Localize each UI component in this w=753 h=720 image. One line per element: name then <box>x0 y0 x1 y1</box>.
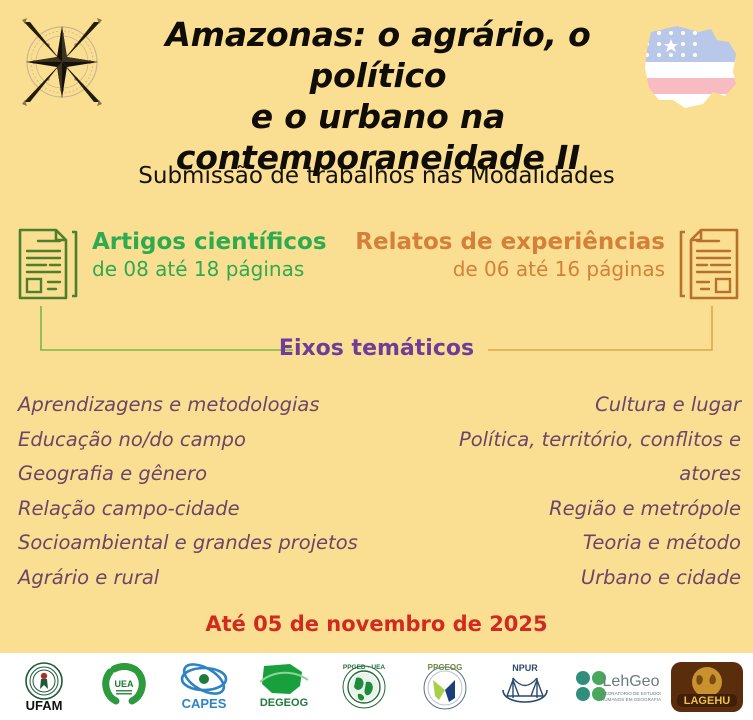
page-title: Amazonas: o agrário, o político e o urba… <box>108 14 648 178</box>
logo-lagehu: LAGEHU <box>669 656 745 718</box>
list-item: Cultura e lugar <box>411 388 741 423</box>
document-icon <box>675 226 741 302</box>
list-item: Urbano e cidade <box>411 561 741 596</box>
logo-capes: CAPES <box>168 656 240 718</box>
list-item: Teoria e método <box>411 526 741 561</box>
list-item: Aprendizagens e metodologias <box>18 388 388 423</box>
modality-name: Artigos científicos <box>92 228 327 256</box>
modality-relatos-de-experiencias: Relatos de experiências de 06 até 16 pág… <box>395 226 745 306</box>
amazonas-flag-map-icon <box>637 20 745 114</box>
svg-text:HUMANOS EM GEOGRAFIA: HUMANOS EM GEOGRAFIA <box>601 697 661 702</box>
logo-lehgeo: LehGeo LABORATORIO DE ESTUDOS HUMANOS EM… <box>569 656 661 718</box>
logo-ppgeog: PPGEOG <box>409 656 481 718</box>
list-item: Política, território, conflitos e atores <box>411 423 741 492</box>
list-item: Região e metrópole <box>411 492 741 527</box>
logo-label: PPGED - UEA <box>343 664 386 671</box>
title-line-1: Amazonas: o agrário, o político <box>108 14 648 96</box>
logo-degeog: DEGEOG <box>248 656 320 718</box>
logo-label: CAPES <box>182 696 227 711</box>
logo-label: UEA <box>115 679 135 689</box>
logo-label: NPUR <box>512 663 538 673</box>
list-item: Socioambiental e grandes projetos <box>18 526 388 561</box>
eixos-right-column: Cultura e lugar Política, território, co… <box>411 388 741 595</box>
eixos-tematicos-label: Eixos temáticos <box>0 336 753 361</box>
page-subtitle: Submissão de trabalhos nas Modalidades <box>0 163 753 189</box>
list-item: Relação campo-cidade <box>18 492 388 527</box>
list-item: Geografia e gênero <box>18 457 388 492</box>
list-item: Agrário e rural <box>18 561 388 596</box>
logo-label: LAGEHU <box>684 695 731 707</box>
logo-label: LehGeo <box>602 673 659 690</box>
svg-text:LABORATORIO DE ESTUDOS: LABORATORIO DE ESTUDOS <box>599 691 661 696</box>
modality-artigos-cientificos: Artigos científicos de 08 até 18 páginas <box>10 226 360 306</box>
modality-name: Relatos de experiências <box>355 228 665 256</box>
deadline-text: Até 05 de novembro de 2025 <box>0 612 753 636</box>
modality-pages: de 06 até 16 páginas <box>355 256 665 282</box>
poster-root: Amazonas: o agrário, o político e o urba… <box>0 0 753 720</box>
modality-text: Artigos científicos de 08 até 18 páginas <box>92 228 327 282</box>
logo-label: UFAM <box>26 698 63 713</box>
logo-uea: UEA <box>88 656 160 718</box>
logo-ppged-uea: PPGED - UEA <box>328 656 400 718</box>
list-item: Educação no/do campo <box>18 423 388 458</box>
eixos-left-column: Aprendizagens e metodologias Educação no… <box>18 388 388 595</box>
logo-ufam: UFAM <box>8 656 80 718</box>
footer-logos: UFAM UEA <box>0 653 753 720</box>
modality-pages: de 08 até 18 páginas <box>92 256 327 282</box>
compass-rose-icon <box>14 10 110 114</box>
modality-text: Relatos de experiências de 06 até 16 pág… <box>355 228 665 282</box>
logo-label: DEGEOG <box>260 697 308 709</box>
logo-npur: NPUR <box>489 656 561 718</box>
logo-label: PPGEOG <box>427 663 462 672</box>
title-line-2: e o urbano na <box>108 96 648 137</box>
document-icon <box>16 226 82 302</box>
